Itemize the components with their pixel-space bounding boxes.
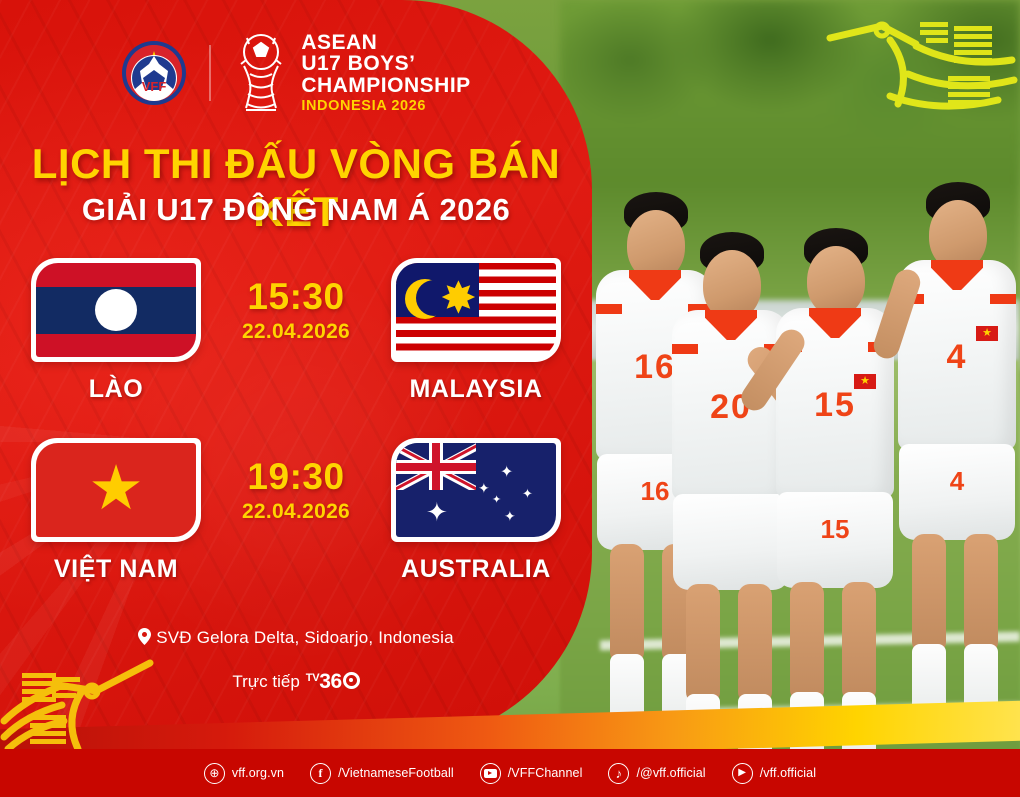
match-kickoff: 19:30 22.04.2026 <box>216 438 376 524</box>
flag-laos <box>31 258 201 362</box>
info-panel: VFF <box>0 0 592 742</box>
social-item-facebook[interactable]: f /VietnameseFootball <box>310 763 454 784</box>
match-date: 22.04.2026 <box>216 500 376 524</box>
tv360-target-icon <box>343 672 360 689</box>
match-date: 22.04.2026 <box>216 320 376 344</box>
player-shirt-number: 4 <box>898 338 1016 377</box>
page-subtitle: GIẢI U17 ĐÔNG NAM Á 2026 <box>0 192 592 228</box>
home-team-name: VIỆT NAM <box>16 555 216 584</box>
away-team-name: AUSTRALIA <box>376 555 576 584</box>
match-row: ★ VIỆT NAM 19:30 22.04.2026 <box>0 438 592 584</box>
facebook-icon: f <box>310 763 331 784</box>
header-logos: VFF <box>0 32 592 114</box>
location-pin-icon <box>138 628 151 650</box>
vff-logo: VFF <box>121 40 187 106</box>
away-team-name: MALAYSIA <box>376 375 576 404</box>
broadcast-line: Trực tiếp TV36 <box>0 670 592 694</box>
tournament-line-1: ASEAN <box>301 32 470 53</box>
social-label: /vff.official <box>760 766 816 780</box>
footer-social-bar: ⊕ vff.org.vn f /VietnameseFootball /VFFC… <box>0 749 1020 797</box>
logo-divider <box>209 45 211 101</box>
trophy-icon <box>233 32 289 114</box>
match-kickoff: 15:30 22.04.2026 <box>216 258 376 344</box>
flag-malaysia: ✸ <box>391 258 561 362</box>
social-label: /@vff.official <box>636 766 705 780</box>
tournament-line-2: U17 BOYS’ <box>301 53 470 74</box>
social-label: vff.org.vn <box>232 766 284 780</box>
tiktok-icon: ♪ <box>608 763 629 784</box>
match-time: 15:30 <box>216 276 376 318</box>
player-shorts-number: 4 <box>899 466 1015 497</box>
tv360-tv-text: TV <box>306 672 319 684</box>
broadcast-label: Trực tiếp <box>232 672 299 692</box>
player-shirt-number: 15 <box>776 386 894 425</box>
match-list: LÀO 15:30 22.04.2026 ✸ <box>0 258 592 608</box>
home-team-name: LÀO <box>16 375 216 404</box>
match-schedule-poster: ★ 16 16 20 <box>0 0 1020 797</box>
social-item-play[interactable]: ▶ /vff.official <box>732 763 816 784</box>
social-item-website[interactable]: ⊕ vff.org.vn <box>204 763 284 784</box>
venue-text: SVĐ Gelora Delta, Sidoarjo, Indonesia <box>156 628 454 647</box>
globe-icon: ⊕ <box>204 763 225 784</box>
vff-logo-text: VFF <box>142 79 167 94</box>
tournament-logo-block: ASEAN U17 BOYS’ CHAMPIONSHIP INDONESIA 2… <box>233 32 470 114</box>
tournament-line-3: CHAMPIONSHIP <box>301 75 470 96</box>
tv360-logo: TV36 <box>306 670 360 694</box>
social-label: /VFFChannel <box>508 766 583 780</box>
youtube-icon <box>480 763 501 784</box>
tv360-number-text: 36 <box>319 670 341 694</box>
away-team: ✸ MALAYSIA <box>376 258 576 404</box>
social-item-tiktok[interactable]: ♪ /@vff.official <box>608 763 705 784</box>
social-label: /VietnameseFootball <box>338 766 454 780</box>
flag-australia: ✦ ✦ ✦ ✦ ✦ ✦ <box>391 438 561 542</box>
match-row: LÀO 15:30 22.04.2026 ✸ <box>0 258 592 404</box>
player-shorts-number: 15 <box>777 514 893 545</box>
flag-vietnam: ★ <box>31 438 201 542</box>
away-team: ✦ ✦ ✦ ✦ ✦ ✦ AUSTRALIA <box>376 438 576 584</box>
tournament-line-4: INDONESIA 2026 <box>301 96 470 114</box>
match-time: 19:30 <box>216 456 376 498</box>
home-team: ★ VIỆT NAM <box>16 438 216 584</box>
home-team: LÀO <box>16 258 216 404</box>
play-icon: ▶ <box>732 763 753 784</box>
venue-line: SVĐ Gelora Delta, Sidoarjo, Indonesia <box>0 628 592 650</box>
social-item-youtube[interactable]: /VFFChannel <box>480 763 583 784</box>
